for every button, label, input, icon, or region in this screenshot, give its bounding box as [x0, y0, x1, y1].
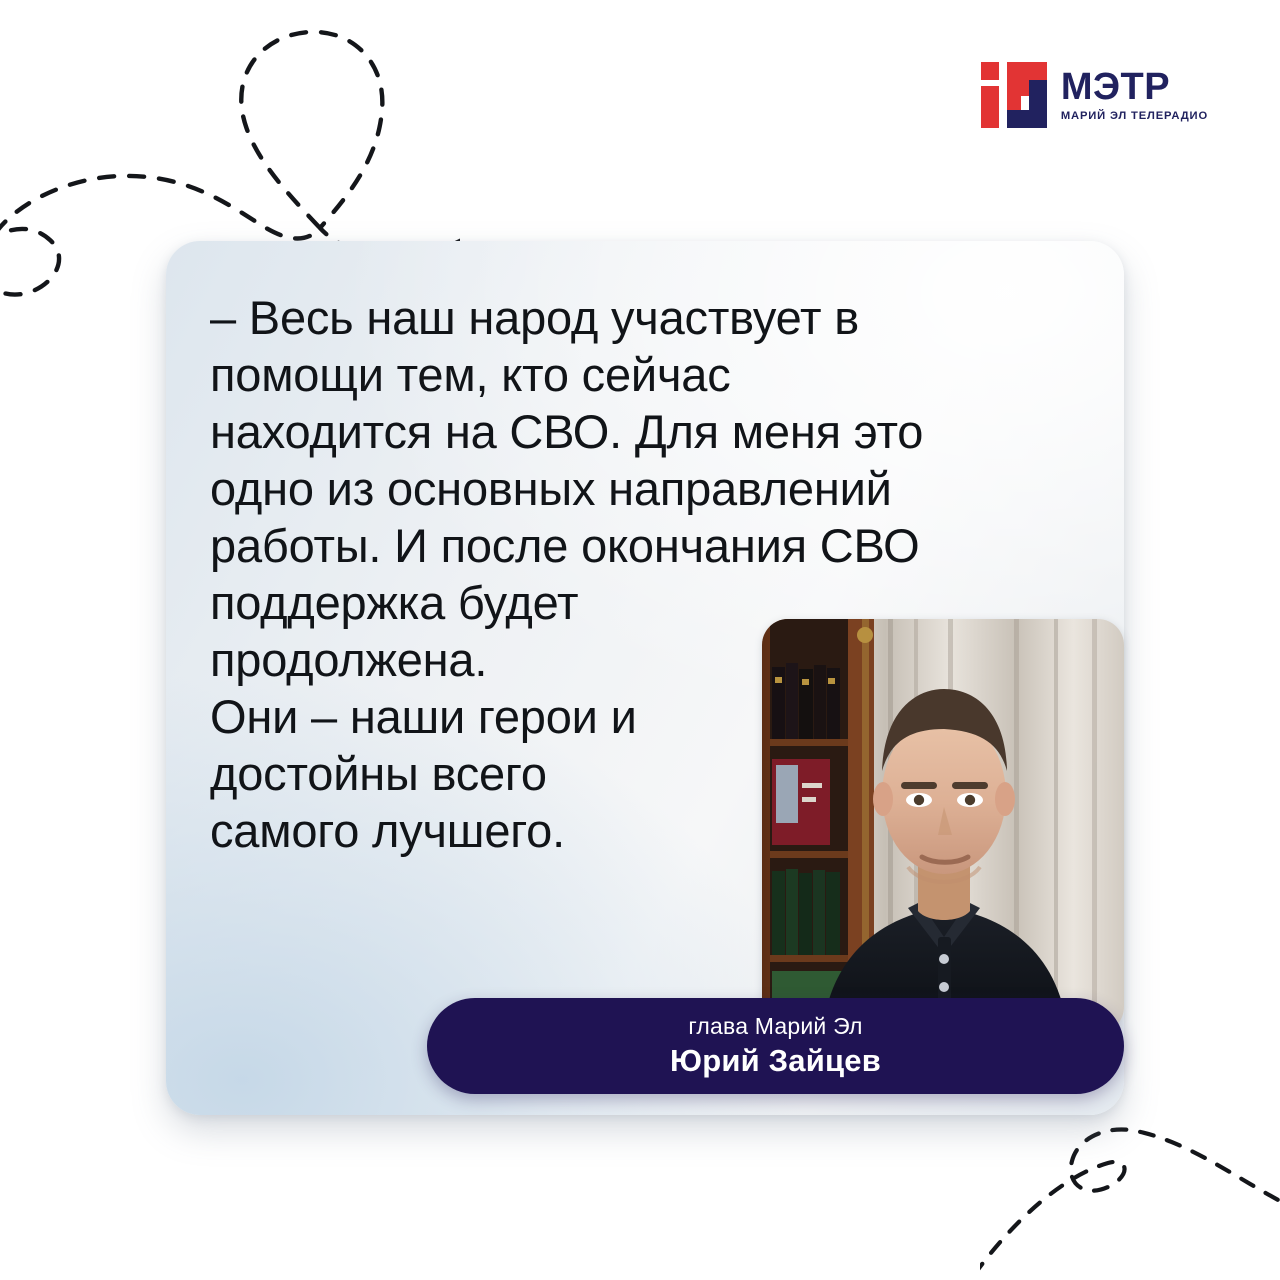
speaker-badge: глава Марий Эл Юрий Зайцев — [427, 998, 1124, 1094]
decorative-dashed-line-bottom-right — [980, 1105, 1280, 1280]
quote-card: – Весь наш народ участвует в помощи тем,… — [166, 241, 1124, 1115]
metr-square-logo-icon — [981, 62, 1047, 128]
portrait-photo — [762, 619, 1124, 1033]
speaker-role: глава Марий Эл — [688, 1013, 862, 1039]
brand-logo: МЭТР МАРИЙ ЭЛ ТЕЛЕРАДИО — [981, 62, 1208, 128]
brand-subtitle: МАРИЙ ЭЛ ТЕЛЕРАДИО — [1061, 111, 1208, 122]
brand-wordmark: МЭТР МАРИЙ ЭЛ ТЕЛЕРАДИО — [1061, 68, 1208, 122]
dashed-path — [980, 1129, 1280, 1275]
brand-title: МЭТР — [1061, 68, 1170, 106]
speaker-name: Юрий Зайцев — [670, 1042, 881, 1079]
